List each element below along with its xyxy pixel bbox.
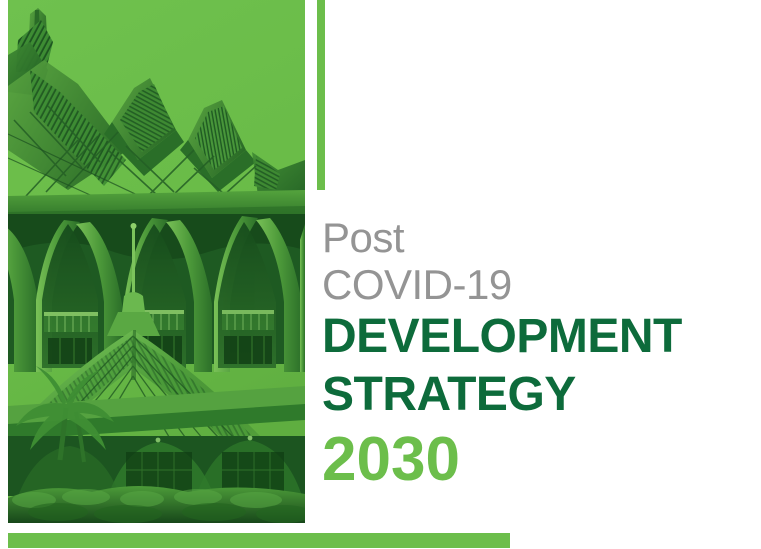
- balcony-railing: [44, 310, 274, 332]
- title-line-strategy: STRATEGY: [322, 366, 742, 424]
- cover-page: Post COVID-19 DEVELOPMENT STRATEGY 2030: [0, 0, 761, 549]
- cover-photo: [8, 0, 305, 523]
- cover-title-block: Post COVID-19 DEVELOPMENT STRATEGY 2030: [322, 214, 742, 496]
- bottom-green-accent-bar: [8, 533, 510, 548]
- building-photo-illustration: [8, 0, 305, 523]
- title-line-post: Post: [322, 214, 742, 261]
- title-line-development: DEVELOPMENT: [322, 308, 742, 366]
- title-line-covid: COVID-19: [322, 261, 742, 308]
- vertical-green-accent-bar: [317, 0, 325, 190]
- title-line-year: 2030: [322, 424, 742, 496]
